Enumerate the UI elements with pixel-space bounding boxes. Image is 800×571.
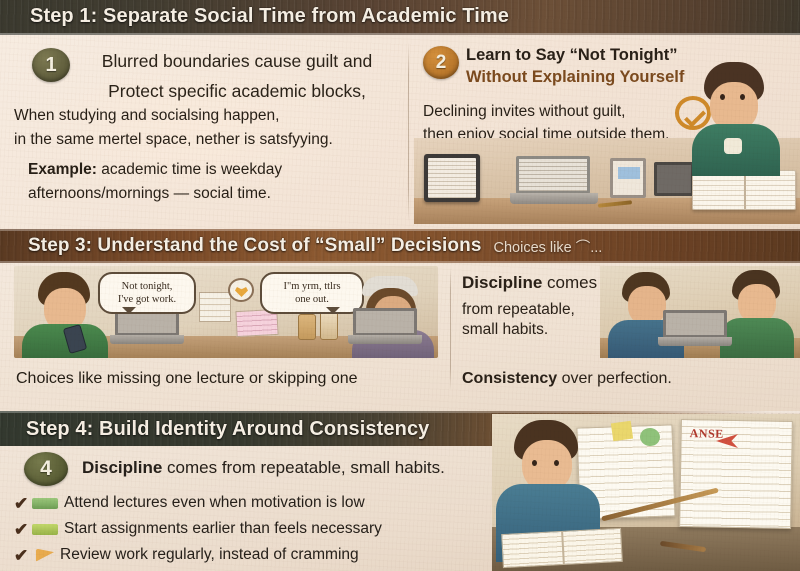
step4-lead-rest: comes from repeatable, small habits.: [162, 458, 445, 477]
avatar-eye-right: [740, 94, 745, 100]
step1-column-divider: [408, 42, 409, 222]
step1-header-bar: Step 1: Separate Social Time from Academ…: [0, 0, 800, 35]
monitor-icon: [654, 162, 694, 196]
step1-left-heading: Blurred boundaries cause guilt and Prote…: [82, 46, 392, 106]
step4-badge-four: 4: [24, 452, 68, 486]
step3-discipline-bold: Discipline: [462, 273, 542, 292]
speech-bubble-right: I"m yrm, ttlrs one out.: [260, 272, 364, 314]
laptop-icon-shared: [658, 314, 732, 346]
step3-header-bar: Step 3: Understand the Cost of “Small” D…: [0, 229, 800, 263]
avatar-shirt-logo: [724, 138, 742, 154]
student-avatar-left: [22, 272, 108, 358]
step1-title: Step 1: Separate Social Time from Academ…: [30, 5, 509, 28]
tablet-device-icon: [424, 154, 480, 202]
open-book-icon: [692, 170, 796, 210]
step1-left-body-line1: When studying and socialsing happen,: [14, 104, 406, 128]
step3-column-divider: [450, 268, 451, 390]
heart-reaction-icon: [228, 278, 254, 302]
checklist-item-label: Review work regularly, instead of crammi…: [60, 545, 359, 565]
checkmark-icon: ✔: [14, 547, 30, 564]
calendar-note: [199, 292, 231, 322]
step3-discipline-rest: comes: [542, 273, 597, 292]
avatar-eye-left: [720, 94, 725, 100]
step3-consistency-line: Consistency over perfection.: [462, 368, 782, 389]
step1-badge-one: 1: [32, 48, 70, 82]
picture-frame-icon: [610, 158, 646, 198]
step3-discipline-body-line2: small habits.: [462, 320, 612, 340]
highlight-marker-icon: [32, 498, 58, 509]
step1-left-heading-line2: Protect specific academic blocks,: [82, 76, 392, 106]
step1-left-body: When studying and socialsing happen, in …: [14, 104, 406, 152]
step1-example-rest: academic time is weekday: [97, 161, 282, 178]
step3-subtitle: Choices like ⌒...: [494, 236, 603, 257]
speech-bubble-left: Not tonight, I've got work.: [98, 272, 196, 314]
infographic-page: Step 1: Separate Social Time from Academ…: [0, 0, 800, 571]
step1-left-body-line2: in the same mertel space, nether is sats…: [14, 128, 406, 152]
open-notebook-icon: [501, 528, 623, 568]
poster-title: ANSE: [690, 426, 724, 442]
checklist-item[interactable]: ✔ Attend lectures even when motivation i…: [14, 490, 484, 516]
checklist-item-label: Start assignments earlier than feels nec…: [64, 519, 382, 539]
checklist-item[interactable]: ✔ Review work regularly, instead of cram…: [14, 542, 484, 568]
step1-example-label: Example:: [28, 161, 97, 178]
checkmark-icon: ✔: [14, 521, 30, 538]
sticky-note-yellow: [611, 421, 633, 442]
step1-left-heading-line1: Blurred boundaries cause guilt and: [82, 46, 392, 76]
step4-lead-line: Discipline comes from repeatable, small …: [82, 456, 512, 480]
step1-example-line1: Example: academic time is weekday: [28, 158, 406, 182]
step1-left-example: Example: academic time is weekday aftern…: [28, 158, 406, 206]
step3-discipline-body-line1: from repeatable,: [462, 300, 612, 320]
highlight-marker-icon: [32, 524, 58, 535]
step3-cafe-illustration: Not tonight, I've got work. I"m yrm, ttl…: [14, 266, 438, 358]
step1-badge-two: 2: [423, 46, 459, 79]
drink-cup-one: [298, 314, 316, 340]
step4-lead-bold: Discipline: [82, 458, 162, 477]
step4-title: Step 4: Build Identity Around Consistenc…: [26, 418, 429, 441]
checkmark-icon: ✔: [14, 495, 30, 512]
step3-discipline-body: from repeatable, small habits.: [462, 300, 612, 340]
student-avatar-step2: [690, 62, 782, 174]
step3-title: Step 3: Understand the Cost of “Small” D…: [28, 235, 482, 257]
step3-study-pair-illustration: [600, 266, 800, 358]
checklist-item-label: Attend lectures even when motivation is …: [64, 493, 365, 513]
checklist-item[interactable]: ✔ Start assignments earlier than feels n…: [14, 516, 484, 542]
arrow-marker-icon: [36, 549, 54, 562]
step3-caption: Choices like missing one lecture or skip…: [16, 368, 436, 390]
laptop-icon-right: [348, 312, 422, 344]
step3-consistency-bold: Consistency: [462, 370, 557, 387]
step4-study-illustration: ANSE: [492, 414, 800, 571]
step4-checklist: ✔ Attend lectures even when motivation i…: [14, 490, 484, 568]
laptop-device-icon: [510, 162, 598, 204]
step1-example-line2: afternoons/mornings — social time.: [28, 182, 406, 206]
step3-consistency-rest: over perfection.: [557, 370, 672, 387]
